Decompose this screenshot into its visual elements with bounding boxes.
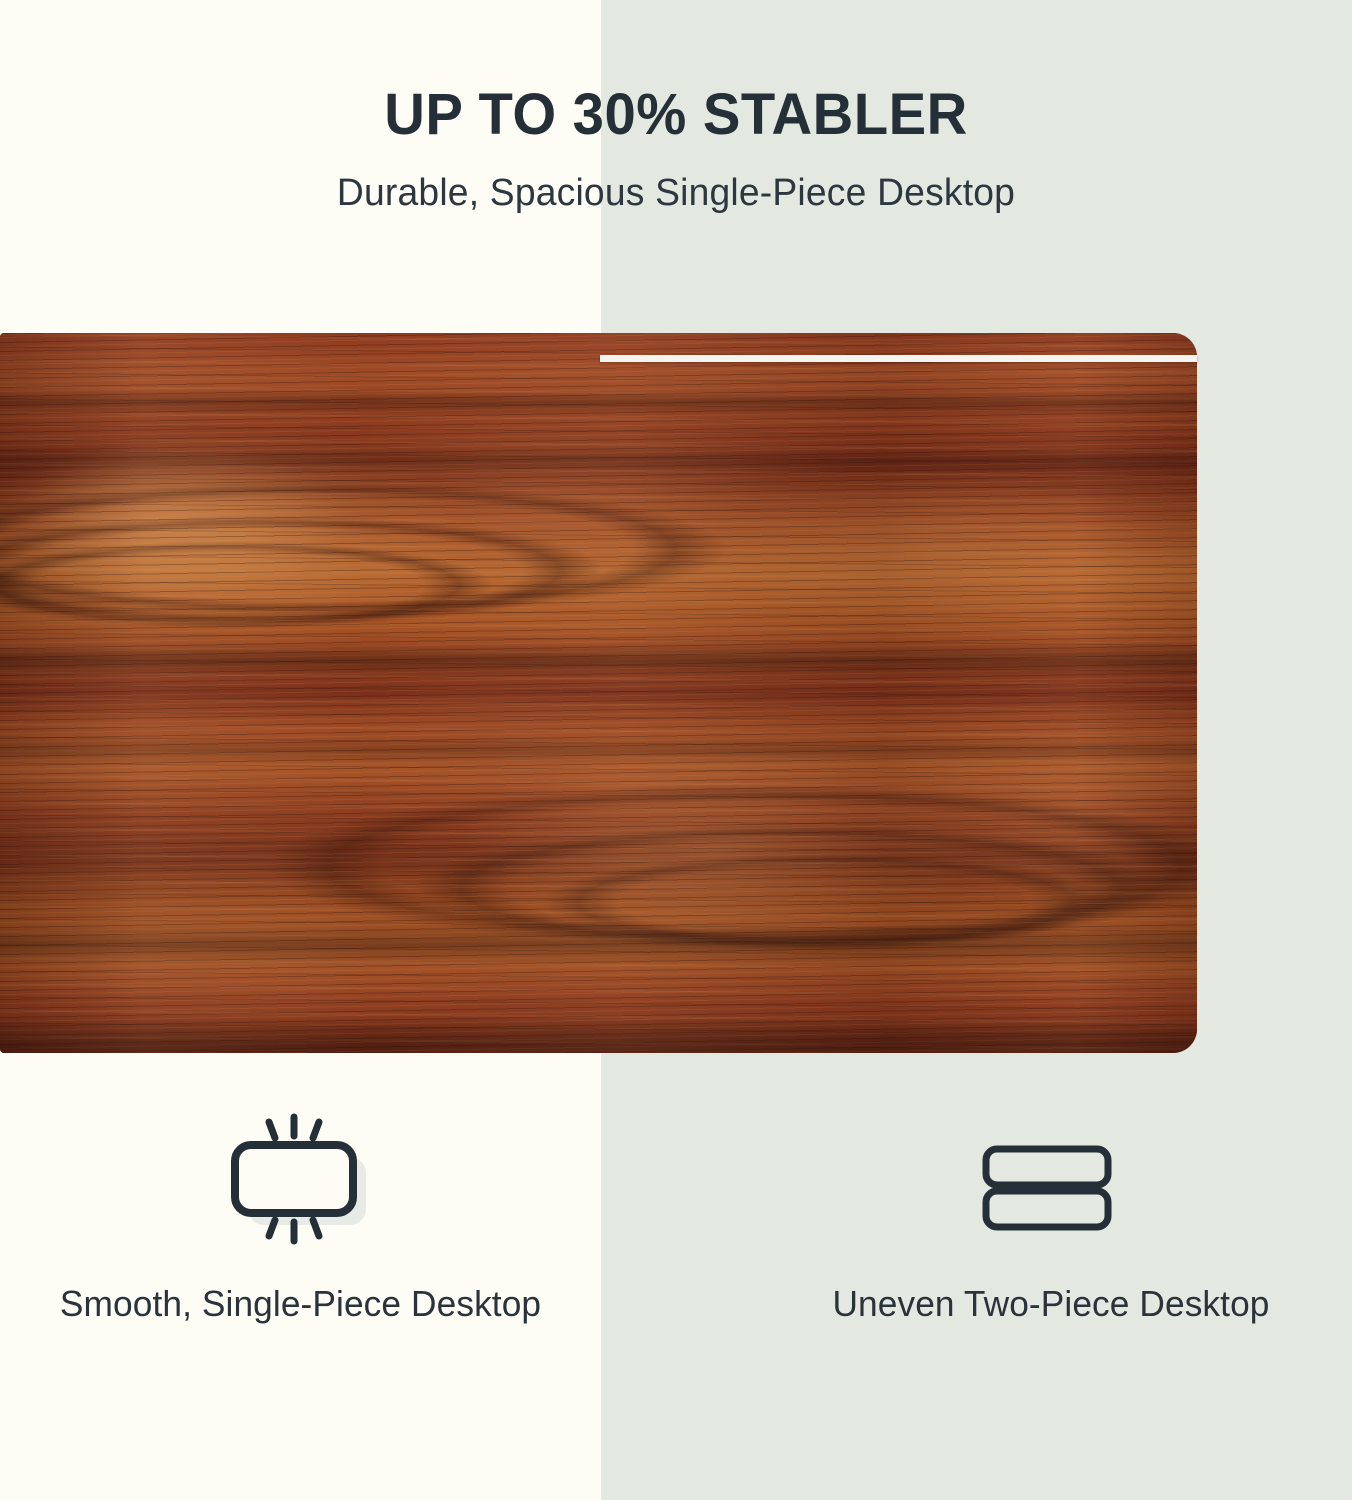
comparison-item-two-piece: Uneven Two-Piece Desktop	[676, 1105, 1352, 1326]
icon-container-right	[956, 1105, 1146, 1275]
page-subtitle: Durable, Spacious Single-Piece Desktop	[14, 172, 1339, 215]
wood-desktop-photo	[0, 333, 1197, 1053]
wood-sheen-layer	[0, 333, 1197, 1053]
uneven-two-piece-desktop-icon	[956, 1105, 1146, 1275]
comparison-item-single-piece: Smooth, Single-Piece Desktop	[0, 1105, 676, 1326]
comparison-caption-two-piece: Uneven Two-Piece Desktop	[832, 1281, 1269, 1326]
smooth-single-piece-desktop-icon	[206, 1105, 396, 1275]
header-block: UP TO 30% STABLER Durable, Spacious Sing…	[0, 0, 1352, 215]
page-title: UP TO 30% STABLER	[20, 86, 1331, 144]
icon-container-left	[206, 1105, 396, 1275]
comparison-caption-single-piece: Smooth, Single-Piece Desktop	[60, 1281, 541, 1326]
comparison-row: Smooth, Single-Piece Desktop Uneven Two-…	[0, 1105, 1352, 1326]
desktop-seam-line	[600, 355, 1197, 362]
